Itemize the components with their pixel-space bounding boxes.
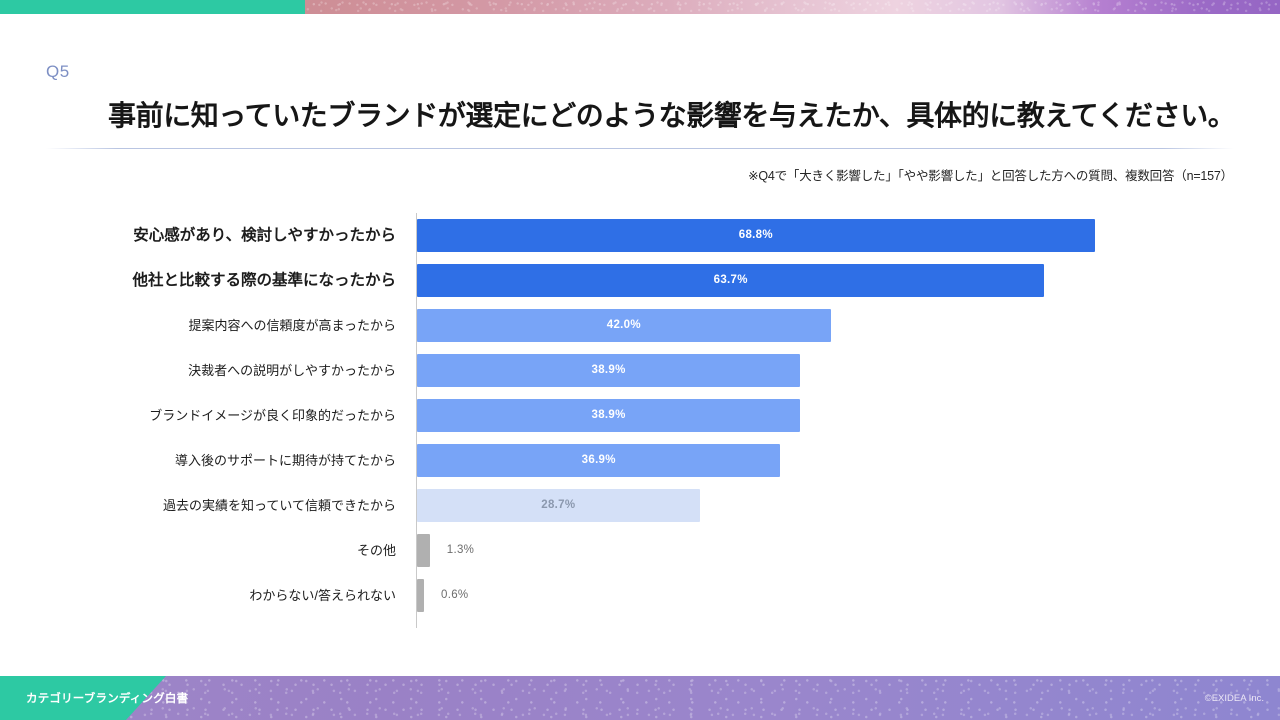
chart-category-label: ブランドイメージが良く印象的だったから [149,393,396,438]
chart-row: 他社と比較する際の基準になったから63.7% [0,258,1280,303]
footer-texture [0,676,1280,720]
survey-note: ※Q4で「大きく影響した」「やや影響した」と回答した方への質問、複数回答（n=1… [748,165,1233,184]
chart-row: わからない/答えられない0.6% [0,573,1280,618]
chart-value-label: 68.8% [417,219,1095,252]
chart-value-label: 0.6% [441,579,468,612]
chart-value-label: 38.9% [417,399,800,432]
chart-value-label: 63.7% [417,264,1044,297]
horizontal-bar-chart: 安心感があり、検討しやすかったから68.8%他社と比較する際の基準になったから6… [0,213,1280,628]
chart-bar [417,579,424,612]
chart-value-label: 28.7% [417,489,700,522]
chart-bar-track: 63.7% [417,258,1237,303]
footer-copyright: ©EXIDEA Inc. [1205,676,1264,720]
chart-row: 過去の実績を知っていて信頼できたから28.7% [0,483,1280,528]
chart-category-label: その他 [357,528,396,573]
page-title: 事前に知っていたブランドが選定にどのような影響を与えたか、具体的に教えてください… [108,98,1238,133]
chart-bar [417,534,430,567]
chart-value-label: 42.0% [417,309,831,342]
chart-row-list: 安心感があり、検討しやすかったから68.8%他社と比較する際の基準になったから6… [0,213,1280,618]
chart-category-label: 他社と比較する際の基準になったから [132,258,396,303]
chart-value-label: 38.9% [417,354,800,387]
chart-category-label: 提案内容への信頼度が高まったから [189,303,396,348]
chart-bar-track: 42.0% [417,303,1237,348]
chart-bar-track: 0.6% [417,573,1237,618]
top-decorative-bar [0,0,1280,14]
chart-row: 導入後のサポートに期待が持てたから36.9% [0,438,1280,483]
chart-bar-track: 68.8% [417,213,1237,258]
title-divider [46,148,1234,149]
chart-bar-track: 36.9% [417,438,1237,483]
footer-document-title: カテゴリーブランディング白書 [26,676,188,720]
chart-category-label: 決裁者への説明がしやすかったから [188,348,396,393]
chart-category-label: わからない/答えられない [249,573,396,618]
chart-category-label: 導入後のサポートに期待が持てたから [175,438,396,483]
chart-category-label: 安心感があり、検討しやすかったから [133,213,396,258]
chart-row: その他1.3% [0,528,1280,573]
chart-row: 決裁者への説明がしやすかったから38.9% [0,348,1280,393]
chart-bar-track: 38.9% [417,393,1237,438]
question-number: Q5 [46,62,70,82]
chart-row: ブランドイメージが良く印象的だったから38.9% [0,393,1280,438]
chart-row: 提案内容への信頼度が高まったから42.0% [0,303,1280,348]
chart-bar-track: 28.7% [417,483,1237,528]
chart-category-label: 過去の実績を知っていて信頼できたから [163,483,396,528]
chart-value-label: 36.9% [417,444,780,477]
chart-value-label: 1.3% [447,534,474,567]
chart-bar-track: 1.3% [417,528,1237,573]
top-bar-teal-accent [0,0,305,14]
page-footer: カテゴリーブランディング白書 ©EXIDEA Inc. [0,676,1280,720]
chart-row: 安心感があり、検討しやすかったから68.8% [0,213,1280,258]
chart-bar-track: 38.9% [417,348,1237,393]
